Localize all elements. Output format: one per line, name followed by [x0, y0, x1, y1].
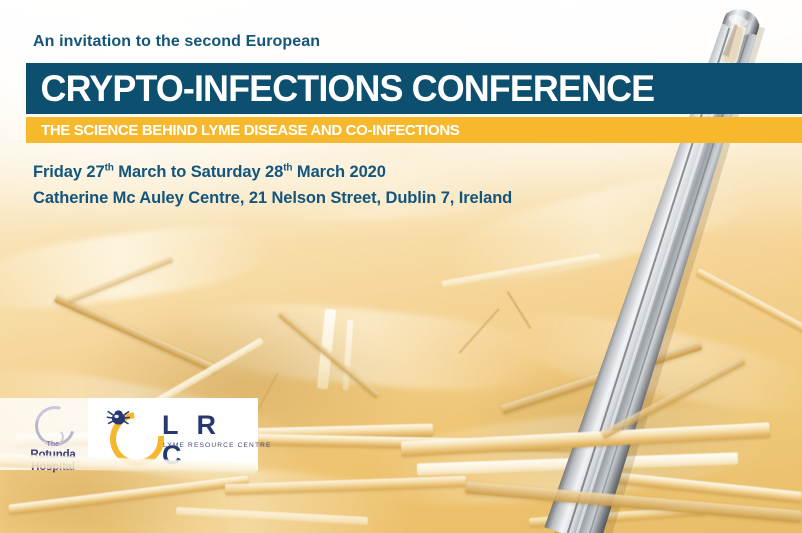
conference-invitation-poster: An invitation to the second European CRY…: [0, 0, 802, 533]
hay-foreground-layer: [0, 0, 802, 533]
